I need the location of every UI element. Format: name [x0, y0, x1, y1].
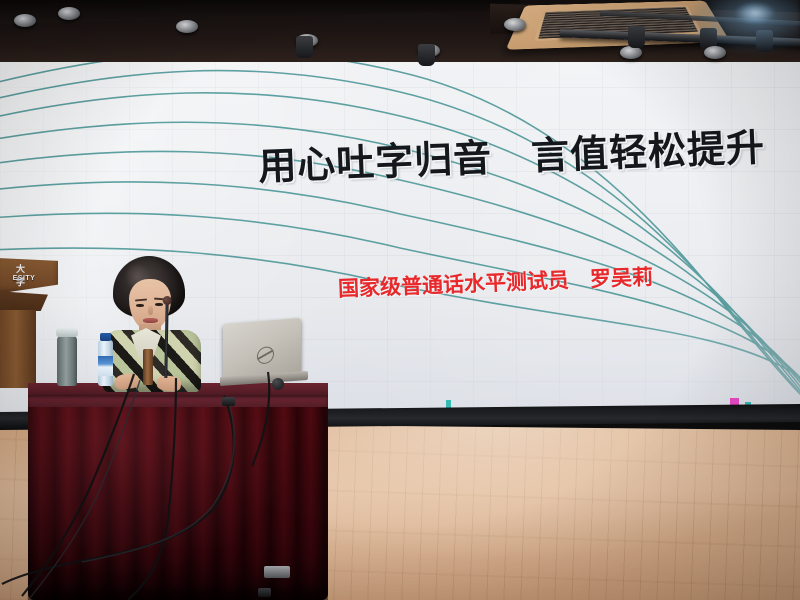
water-bottle-cap — [100, 333, 111, 341]
podium-top-panel: 大学 ESITY — [0, 258, 58, 294]
spotlight-housing-icon — [418, 44, 435, 66]
spotlight-lens-flare — [735, 2, 775, 24]
thermos-cap — [56, 328, 78, 337]
ceiling-spotlight-icon — [504, 18, 526, 31]
lectern-podium: 大学 ESITY — [0, 258, 58, 388]
podium-university-text: ESITY — [4, 275, 44, 291]
microphone-head-icon — [163, 296, 172, 305]
floor-cable-plug — [258, 588, 271, 597]
podium-midsection — [0, 291, 48, 311]
stage-cables — [0, 370, 420, 600]
speaker-eye-right — [155, 303, 163, 306]
speaker-eye-left — [136, 304, 144, 307]
spotlight-housing-icon — [628, 26, 645, 48]
speaker-mouth — [143, 318, 158, 323]
dell-logo-icon — [254, 343, 276, 367]
podium-emblem-icon: 大学 — [16, 262, 28, 272]
lecture-hall-photo: 用心吐字归音 言值轻松提升 国家级普通话水平测试员 罗吴莉 大学 — [0, 0, 800, 600]
spotlight-housing-icon — [296, 36, 313, 58]
ceiling — [0, 0, 800, 62]
speaker-eyebrow-left — [135, 298, 147, 301]
stage-floor-box — [264, 566, 290, 578]
ceiling-spotlight-icon — [58, 7, 80, 20]
ceiling-spotlight-icon — [176, 20, 198, 33]
speaker-nose — [148, 306, 153, 315]
ceiling-spotlight-icon — [14, 14, 36, 27]
screen-color-swatch — [446, 400, 451, 408]
speaker-person — [95, 256, 227, 388]
cable-connector — [222, 397, 235, 406]
